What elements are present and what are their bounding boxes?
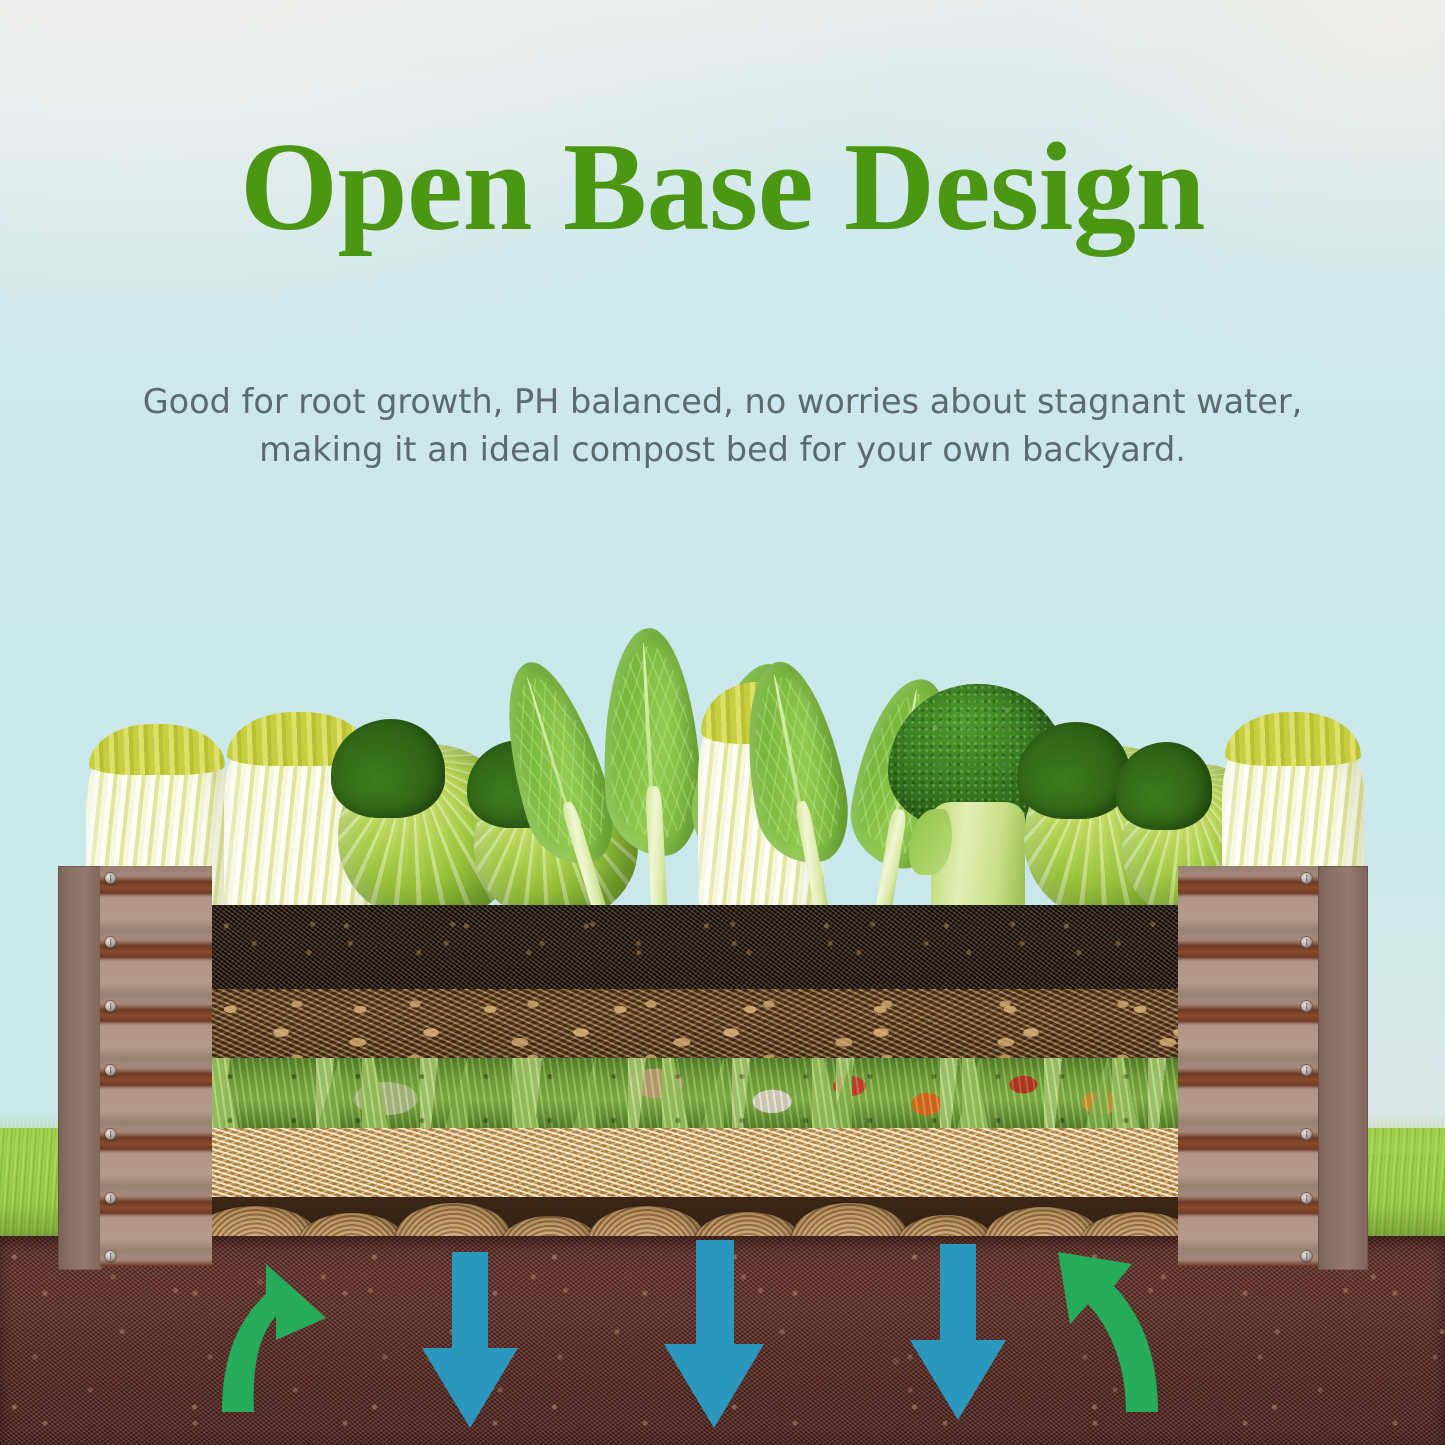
bed-corner-post-left — [58, 866, 102, 1270]
subtitle-line-2: making it an ideal compost bed for your … — [68, 426, 1378, 474]
panel-screw — [105, 1251, 116, 1262]
panel-screw — [105, 1001, 116, 1012]
page-subtitle: Good for root growth, PH balanced, no wo… — [68, 378, 1378, 473]
chard-leaf — [669, 654, 813, 920]
leaf-blade — [843, 671, 968, 874]
panel-screw — [1301, 937, 1312, 948]
napa-cabbage-plant — [698, 682, 824, 920]
leaf-stalk — [874, 808, 907, 920]
panel-screw — [105, 1129, 116, 1140]
compost-layer-mulch — [212, 989, 1178, 1058]
leaf-stalk — [707, 801, 746, 920]
compost-cross-section — [212, 905, 1178, 1270]
chard-leaf — [484, 651, 645, 920]
panel-screw — [1301, 1001, 1312, 1012]
subtitle-line-1: Good for root growth, PH balanced, no wo… — [68, 378, 1378, 426]
open-base-design-poster: Open Base Design Good for root growth, P… — [0, 0, 1445, 1445]
panel-screw — [105, 1065, 116, 1076]
page-title: Open Base Design — [0, 122, 1445, 254]
broccoli-crown — [888, 684, 1068, 830]
bok-choy-leaf — [729, 654, 869, 920]
chard-leaf — [597, 626, 708, 920]
compost-layer-kitchen-scraps — [212, 1058, 1178, 1127]
bed-corner-post-right — [1318, 866, 1368, 1270]
leaf-stalk — [794, 800, 831, 920]
panel-screw — [1301, 873, 1312, 884]
panel-screw — [105, 937, 116, 948]
water-drain-arrow-1 — [418, 1252, 522, 1428]
cabbage-plant — [474, 762, 638, 920]
leaf-blade — [484, 651, 627, 876]
compost-layer-straw — [212, 1128, 1178, 1197]
panel-screw — [1301, 1193, 1312, 1204]
napa-cabbage-plant — [224, 712, 374, 920]
bok-choy-leaf — [835, 671, 968, 920]
air-intake-arrow-left — [214, 1256, 338, 1412]
panel-screw — [1301, 1251, 1312, 1262]
leaf-blade — [597, 626, 705, 858]
panel-screw — [105, 873, 116, 884]
leaf-blade — [681, 654, 813, 873]
leaf-stalk — [560, 800, 609, 920]
leaf-stalk — [645, 785, 667, 920]
broccoli-plant — [888, 684, 1068, 920]
panel-screw — [105, 1193, 116, 1204]
cabbage-plant — [338, 744, 522, 920]
leaf-blade — [729, 654, 858, 872]
panel-screw — [1301, 1129, 1312, 1140]
compost-layer-topsoil — [212, 905, 1178, 989]
air-intake-arrow-right — [1040, 1248, 1166, 1412]
water-drain-arrow-3 — [906, 1244, 1010, 1420]
broccoli-stem — [931, 802, 1025, 920]
water-drain-arrow-2 — [660, 1240, 768, 1428]
panel-screw — [1301, 1065, 1312, 1076]
bed-side-panel-right — [1178, 866, 1318, 1266]
log-end — [792, 1203, 908, 1270]
bed-side-panel-left — [100, 866, 212, 1266]
